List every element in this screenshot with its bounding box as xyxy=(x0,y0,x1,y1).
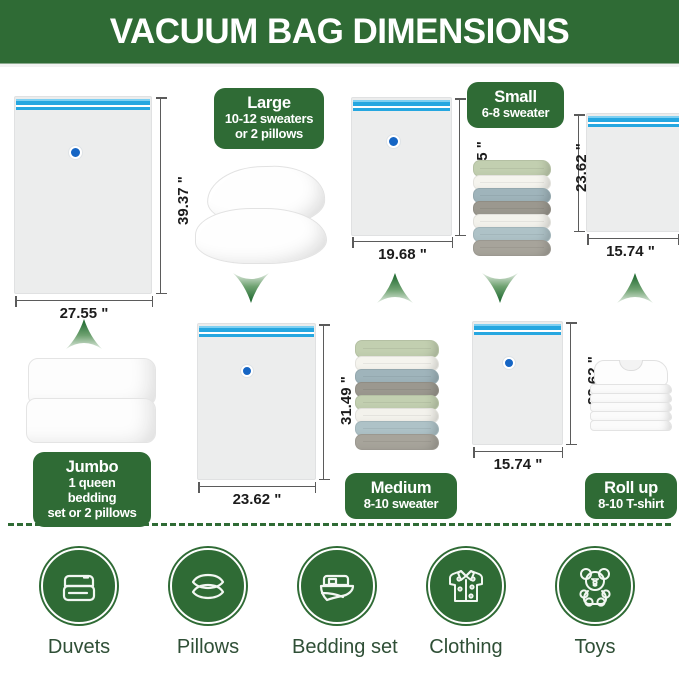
feature-clothing: Clothing xyxy=(421,548,511,659)
bag-rollup-width-line xyxy=(473,451,563,452)
bag-jumbo-top-left-height-line xyxy=(160,97,161,294)
feature-pillows: Pillows xyxy=(163,548,253,659)
bag-body xyxy=(472,321,563,445)
bag-rollup-height-line xyxy=(570,322,571,445)
bag-medium-bottom-width-line xyxy=(198,486,316,487)
bag-body xyxy=(586,113,679,232)
chip-small: Small 6-8 sweater xyxy=(467,82,564,128)
bag-body xyxy=(351,97,452,236)
duvet-image xyxy=(26,358,158,444)
arrow-2-up-icon xyxy=(375,271,415,305)
bag-zipper-strip xyxy=(588,116,679,124)
chip-jumbo: Jumbo 1 queen bedding set or 2 pillows xyxy=(33,452,151,527)
feature-pillows-label: Pillows xyxy=(163,636,253,659)
arrow-jumbo-up-icon xyxy=(64,317,104,351)
chip-small-title: Small xyxy=(477,88,554,106)
bag-valve-icon xyxy=(69,146,82,159)
tshirt-fold xyxy=(590,420,672,431)
bag-large-width-label: 19.68 " xyxy=(352,246,453,263)
chip-rollup: Roll up 8-10 T-shirt xyxy=(585,473,677,519)
teddy-bear-icon xyxy=(557,548,633,624)
feature-toys: Toys xyxy=(550,548,640,659)
bag-zipper-line xyxy=(199,334,314,337)
chip-medium-subtitle: 8-10 sweater xyxy=(355,497,447,512)
bag-medium-bottom-height-label: 31.49 " xyxy=(338,376,355,425)
header-underline xyxy=(0,63,679,67)
bag-zipper-line xyxy=(353,108,450,111)
bedding-set-icon xyxy=(299,548,375,624)
bag-body xyxy=(14,96,152,294)
bag-medium-bottom-width-label: 23.62 " xyxy=(198,491,316,508)
chip-large-subtitle-2: or 2 pillows xyxy=(224,127,314,142)
folded-sweater xyxy=(473,240,551,256)
chip-large-title: Large xyxy=(224,94,314,112)
chip-medium-title: Medium xyxy=(355,479,447,497)
sweater-stack-medium xyxy=(355,340,441,452)
sweater-stack-small xyxy=(473,160,553,260)
bag-zipper-line xyxy=(16,107,150,110)
chip-jumbo-subtitle: 1 queen bedding xyxy=(43,476,141,505)
chip-large: Large 10-12 sweaters or 2 pillows xyxy=(214,88,324,149)
chip-small-subtitle: 6-8 sweater xyxy=(477,106,554,121)
pillows-image xyxy=(195,166,335,266)
bag-small-top-right-width-label: 15.74 " xyxy=(582,243,679,260)
tshirt-stack-image xyxy=(588,360,674,432)
arrow-1-down-icon xyxy=(231,271,271,305)
folded-sweater xyxy=(355,434,439,450)
bag-jumbo-top-left xyxy=(14,96,152,294)
feature-duvets-label: Duvets xyxy=(34,636,124,659)
bag-small-top-right-width-line xyxy=(587,238,679,239)
chip-rollup-title: Roll up xyxy=(595,479,667,497)
bag-zipper-line xyxy=(474,332,561,335)
pillow-bottom xyxy=(195,208,327,264)
chip-large-subtitle: 10-12 sweaters xyxy=(224,112,314,127)
bag-zipper-strip xyxy=(16,99,150,107)
bag-small-top-right xyxy=(586,113,679,232)
bag-valve-icon xyxy=(241,365,253,377)
bag-medium-bottom-height-line xyxy=(323,324,324,480)
feature-bedding-set-label: Bedding set xyxy=(292,636,382,659)
bag-large-width-line xyxy=(352,241,453,242)
bag-body xyxy=(197,323,316,480)
bag-valve-icon xyxy=(503,357,515,369)
bag-zipper-line xyxy=(588,124,679,127)
bag-medium-bottom xyxy=(197,323,316,480)
bag-large-height-line xyxy=(459,98,460,236)
arrow-4-up-icon xyxy=(615,271,655,305)
feature-bedding-set: Bedding set xyxy=(292,548,382,659)
bag-zipper-strip xyxy=(199,326,314,334)
page-title: VACUUM BAG DIMENSIONS xyxy=(110,12,569,52)
bag-large xyxy=(351,97,452,236)
bag-valve-icon xyxy=(387,135,400,148)
bag-rollup xyxy=(472,321,563,445)
chip-medium: Medium 8-10 sweater xyxy=(345,473,457,519)
feature-duvets: Duvets xyxy=(34,548,124,659)
bag-zipper-strip xyxy=(474,324,561,332)
page-header-banner: VACUUM BAG DIMENSIONS xyxy=(0,0,679,63)
bag-jumbo-top-left-height-label: 39.37 " xyxy=(175,176,192,225)
chip-rollup-subtitle: 8-10 T-shirt xyxy=(595,497,667,512)
bag-rollup-width-label: 15.74 " xyxy=(473,456,563,473)
bag-small-top-right-height-label: 23.62 " xyxy=(573,143,590,192)
feature-clothing-label: Clothing xyxy=(421,636,511,659)
clothing-shirt-icon xyxy=(428,548,504,624)
bag-zipper-strip xyxy=(353,100,450,108)
duvet-fold-bottom xyxy=(26,398,156,443)
arrow-3-down-icon xyxy=(480,271,520,305)
chip-jumbo-title: Jumbo xyxy=(43,458,141,476)
pillows-icon xyxy=(170,548,246,624)
section-divider xyxy=(8,523,671,526)
bag-jumbo-top-left-width-line xyxy=(15,300,153,301)
feature-toys-label: Toys xyxy=(550,636,640,659)
chip-jumbo-subtitle-2: set or 2 pillows xyxy=(43,506,141,521)
duvets-icon xyxy=(41,548,117,624)
